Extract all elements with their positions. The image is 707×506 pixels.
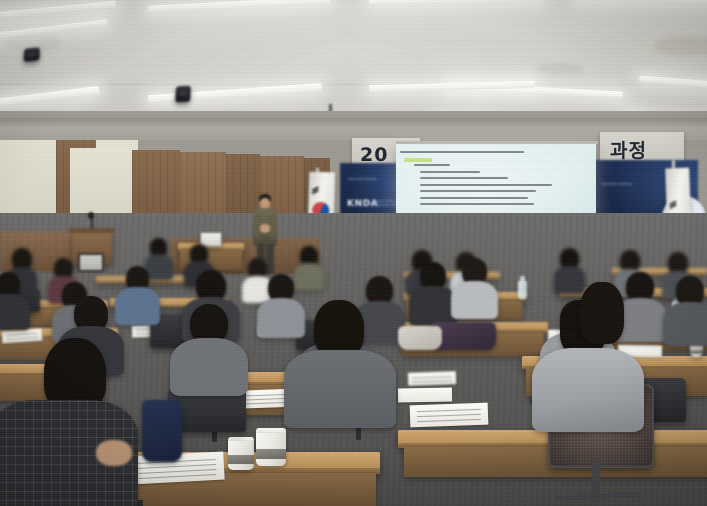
- handout-paper: [398, 388, 452, 403]
- microphone-head: [88, 212, 94, 219]
- knda-caption-left: Diplomatic Academy: [348, 177, 377, 181]
- slide-text-line: [420, 190, 536, 192]
- handout-paper: [410, 403, 489, 428]
- attendee-body: [284, 350, 396, 428]
- attendee-body: [409, 286, 457, 326]
- slide-text-line: [420, 197, 528, 199]
- attendee-body: [294, 263, 324, 290]
- handout-paper: [408, 371, 456, 386]
- attendee-body: [145, 254, 173, 280]
- ceiling-light: [0, 1, 116, 24]
- attendee-head: [580, 282, 624, 344]
- attendee-body: [663, 302, 707, 346]
- attendee-body: [257, 298, 305, 338]
- ceiling-speaker: [175, 86, 191, 103]
- attendee-body: [554, 266, 585, 294]
- knda-caption-right: Diplomatic Academy: [601, 182, 632, 186]
- presenter-hands: [260, 224, 270, 233]
- hall-sign-course: 과정: [610, 136, 647, 163]
- podium-monitor: [78, 253, 104, 272]
- slide-text-line: [420, 203, 534, 205]
- slide-text-line: [414, 164, 450, 166]
- attendee-body: [451, 281, 498, 319]
- attendee-body: [532, 348, 644, 432]
- slide-text-line: [420, 171, 480, 173]
- water-bottle: [518, 280, 527, 299]
- paper-cup: [256, 428, 286, 466]
- slide-text-line: [400, 151, 524, 153]
- paper-cup: [228, 437, 254, 470]
- ceiling-light: [0, 19, 108, 48]
- backpack: [142, 400, 182, 462]
- ceiling-light: [448, 82, 622, 98]
- ceiling-speaker: [24, 47, 40, 62]
- ceiling-light: [148, 0, 330, 13]
- presenter-arm-right: [269, 214, 276, 238]
- attendee-body: [0, 294, 30, 330]
- attendee-body: [115, 287, 160, 325]
- slide-text-line: [420, 177, 508, 179]
- presenter-leg-right: [266, 244, 274, 274]
- ceiling-light: [575, 0, 707, 4]
- ceiling-light: [369, 81, 535, 92]
- lecture-hall-photo: 20 과정 KNDA Korea National Diplomatic Aca…: [0, 0, 707, 506]
- slide-text-line: [420, 184, 552, 186]
- coat-on-desk: [398, 326, 442, 350]
- ceiling-light: [0, 86, 100, 114]
- attendee-body: [170, 338, 248, 396]
- slide-text-line: [404, 158, 432, 162]
- attendee-hand: [96, 440, 132, 466]
- ceiling-light: [369, 0, 543, 5]
- ceiling-light: [148, 83, 322, 103]
- ceiling-light: [639, 75, 707, 95]
